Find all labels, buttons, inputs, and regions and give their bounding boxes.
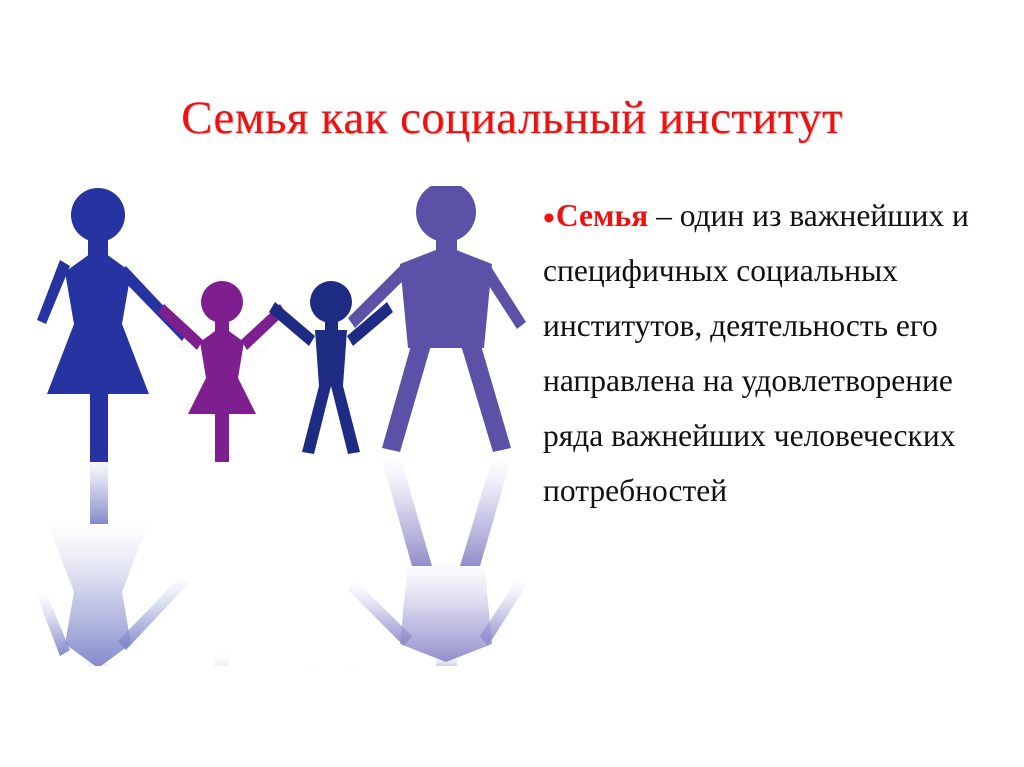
- slide-title: Семья как социальный институт: [0, 94, 1024, 143]
- figure-mother: [37, 188, 188, 462]
- body-text-block: •Семья – один из важнейших и специфичных…: [543, 188, 1021, 518]
- bullet-icon: •: [543, 200, 555, 237]
- reflection-group: [37, 454, 526, 666]
- presentation-slide: Семья как социальный институт: [0, 0, 1024, 767]
- body-paragraph: – один из важнейших и специфичных социал…: [543, 198, 969, 508]
- keyword-semya: Семья: [556, 198, 648, 233]
- family-illustration: [14, 186, 529, 666]
- figure-daughter: [158, 281, 286, 462]
